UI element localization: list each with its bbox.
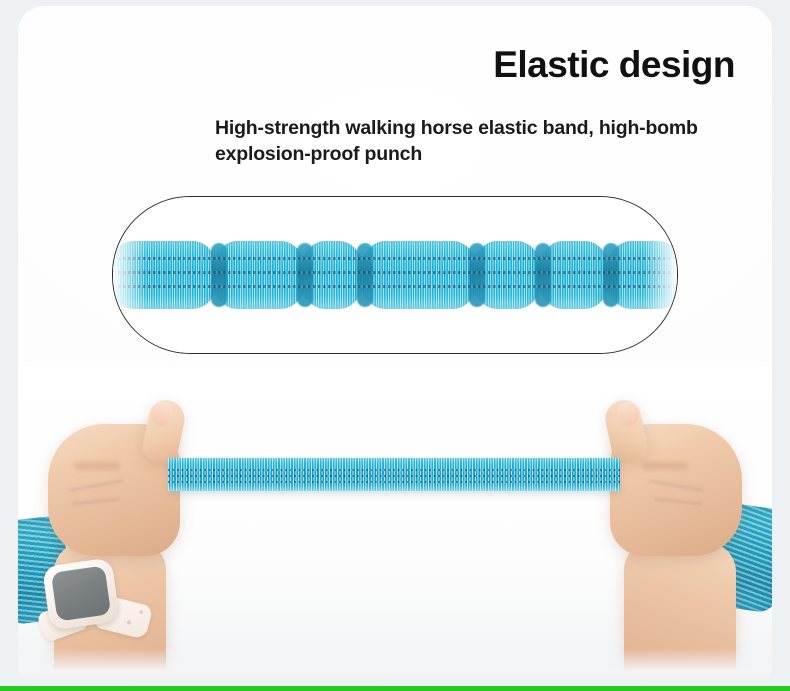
left-knuckle-shade	[74, 462, 120, 470]
right-knuckle-shade	[642, 462, 688, 470]
stretched-elastic-band	[168, 458, 620, 491]
bottom-accent-bar	[0, 686, 790, 691]
scrunched-band-image	[112, 241, 678, 309]
photo-bottom-fade	[18, 648, 772, 682]
detail-panel	[112, 196, 678, 354]
watch-screen	[51, 565, 111, 621]
demo-photo	[18, 366, 772, 682]
page-title: Elastic design	[493, 46, 735, 85]
page-subtitle: High-strength walking horse elastic band…	[215, 116, 735, 168]
panel-edge-fade-left	[113, 233, 147, 317]
panel-edge-fade-right	[643, 233, 677, 317]
product-card: Elastic design High-strength walking hor…	[18, 6, 772, 682]
product-infographic: Elastic design High-strength walking hor…	[0, 0, 790, 691]
